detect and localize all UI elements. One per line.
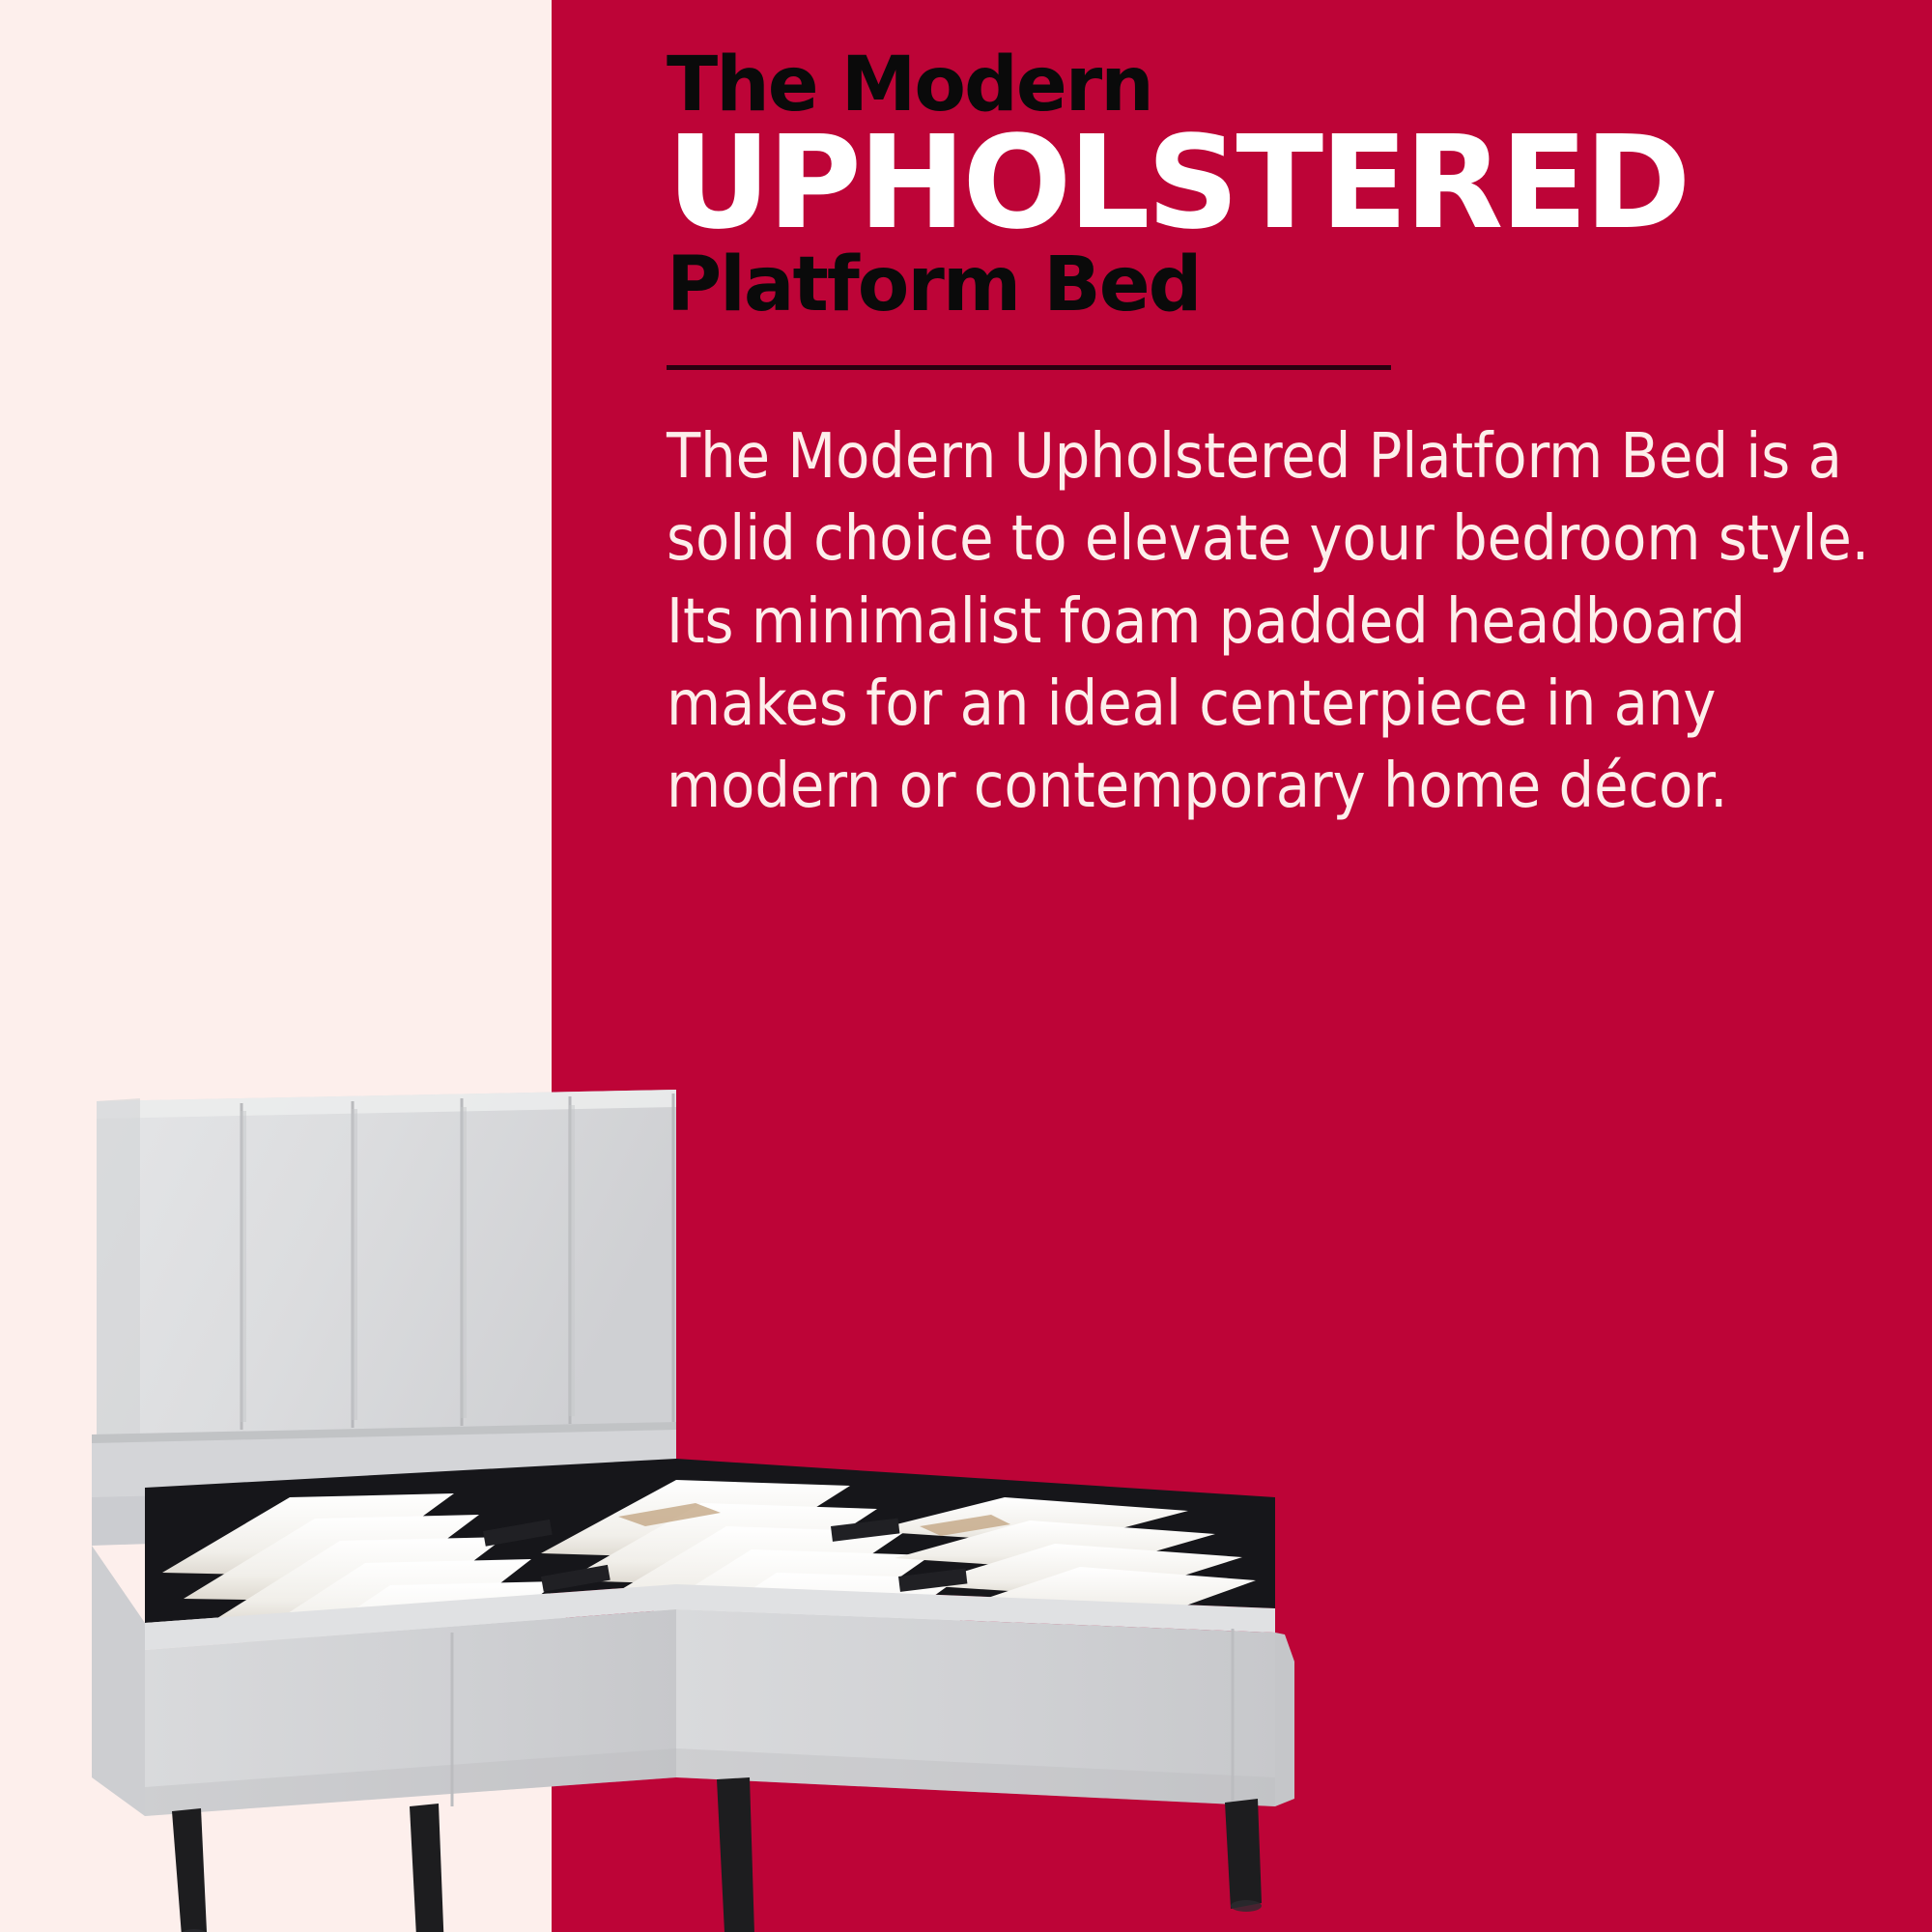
leg-front-middle (410, 1804, 444, 1932)
leg-right (1225, 1799, 1262, 1909)
bed-illustration (0, 1043, 1594, 1932)
leg-front-left (172, 1808, 207, 1932)
page-title: UPHOLSTERED (667, 127, 1922, 242)
leg-front-right (717, 1777, 755, 1932)
divider-rule (667, 365, 1391, 370)
product-ad-canvas: The Modern UPHOLSTERED Platform Bed The … (0, 0, 1932, 1932)
headline-text-block: The Modern UPHOLSTERED Platform Bed The … (667, 50, 1922, 828)
product-image-bed (0, 1043, 1594, 1932)
description-paragraph: The Modern Upholstered Platform Bed is a… (667, 416, 1874, 828)
subtitle-text: Platform Bed (667, 249, 1922, 321)
